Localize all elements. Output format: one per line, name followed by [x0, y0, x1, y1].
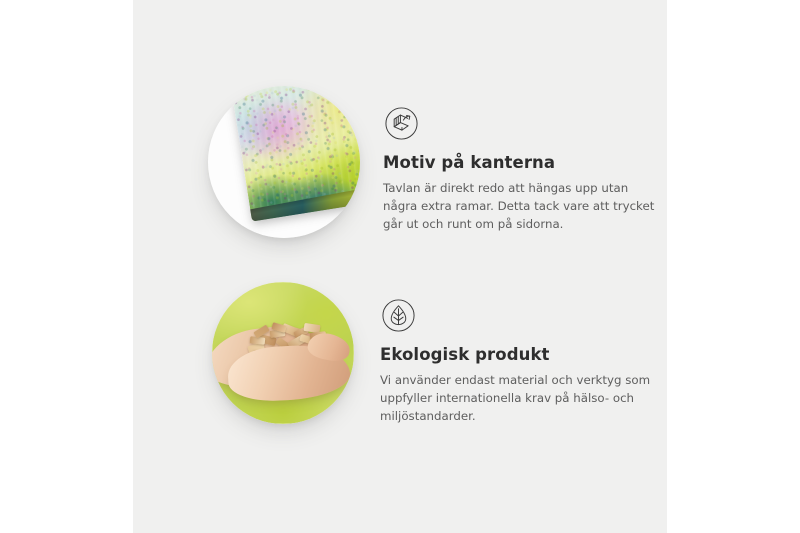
feature-title: Motiv på kanterna [383, 153, 659, 173]
feature-description: Tavlan är direkt redo att hängas upp uta… [383, 180, 659, 234]
feature-block-ekologisk-produkt: Ekologisk produkt Vi använder endast mat… [133, 275, 667, 435]
feature-text-column: Motiv på kanterna Tavlan är direkt redo … [383, 78, 659, 234]
feature-description: Vi använder endast material och verktyg … [380, 372, 656, 426]
feature-block-motiv-pa-kanterna: Motiv på kanterna Tavlan är direkt redo … [133, 78, 667, 246]
feature-image-eco-hands [205, 275, 365, 435]
canvas-wrapped-edge-icon [383, 105, 420, 142]
feature-text-column: Ekologisk produkt Vi använder endast mat… [380, 275, 656, 426]
image-circle [212, 282, 354, 424]
canvas-print-block [231, 86, 360, 222]
image-circle [208, 86, 360, 238]
feature-image-canvas-edge [200, 78, 368, 246]
feature-title: Ekologisk produkt [380, 345, 656, 365]
product-info-graphic: Motiv på kanterna Tavlan är direkt redo … [0, 0, 800, 533]
leaf-icon [380, 297, 417, 334]
